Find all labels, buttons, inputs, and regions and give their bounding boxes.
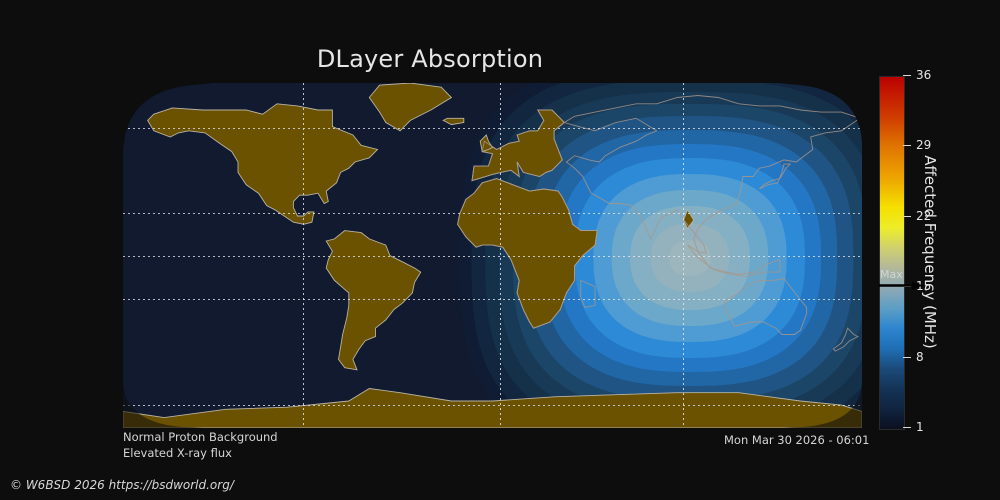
colorbar[interactable] xyxy=(879,76,905,430)
max-marker-label: Max xyxy=(880,268,903,281)
max-arrow-icon xyxy=(879,281,923,290)
world-map[interactable] xyxy=(123,83,862,428)
dlayer-absorption-view: DLayer Absorption 3629221581 Affected Fr… xyxy=(0,0,1000,500)
landmass-samerica xyxy=(326,231,421,370)
graticule-parallel xyxy=(123,256,862,257)
colorbar-axis-label: Affected Frequency (MHz) xyxy=(918,76,942,428)
page-title: DLayer Absorption xyxy=(0,45,860,73)
landmass-africa xyxy=(458,179,598,329)
landmass-greenland xyxy=(369,83,451,131)
landmass-japan xyxy=(759,164,790,189)
landmass-australia xyxy=(725,278,807,334)
copyright-notice: © W6BSD 2026 https://bsdworld.org/ xyxy=(10,478,234,492)
graticule-parallel xyxy=(123,213,862,214)
graticule-meridian xyxy=(500,83,501,428)
graticule-parallel xyxy=(123,405,862,406)
status-line-1: Normal Proton Background xyxy=(123,429,278,445)
graticule-meridian xyxy=(683,83,684,428)
landmass-indonesia xyxy=(688,245,780,276)
graticule-parallel xyxy=(123,299,862,300)
landmass-nz xyxy=(833,328,858,351)
graticule-meridian xyxy=(303,83,304,428)
timestamp: Mon Mar 30 2026 - 06:01 xyxy=(724,433,869,447)
landmass-antarctica xyxy=(123,389,862,429)
landmass-namerica xyxy=(148,104,378,225)
status-line-2: Elevated X-ray flux xyxy=(123,445,278,461)
landmass-iceland xyxy=(443,118,464,124)
status-notes: Normal Proton Background Elevated X-ray … xyxy=(123,429,278,461)
colorbar-max-marker: Max xyxy=(879,270,925,292)
landmass-madagascar xyxy=(581,280,595,307)
graticule-parallel xyxy=(123,128,862,129)
landmass-asia xyxy=(564,96,860,254)
